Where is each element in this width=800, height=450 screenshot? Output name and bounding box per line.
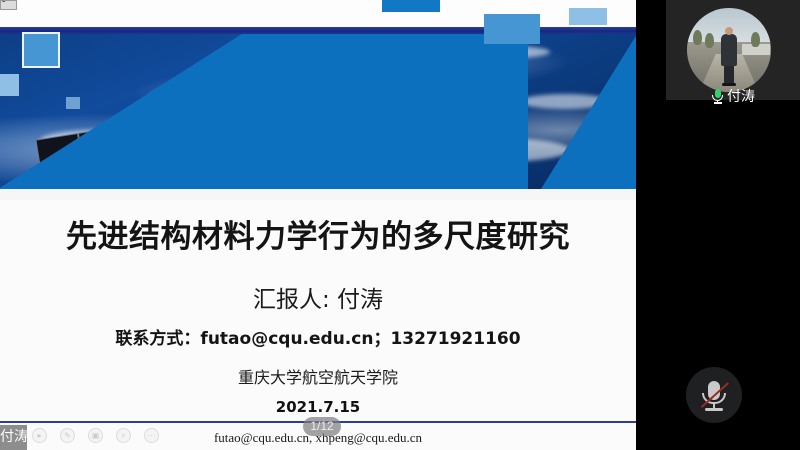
presenter-name-chip: 付涛 xyxy=(0,425,27,450)
slide-presenter: 汇报人: 付涛 xyxy=(0,280,636,314)
slide-banner-graphic xyxy=(0,0,636,200)
banner-top-margin xyxy=(0,0,636,27)
participant-tile[interactable]: 付涛 xyxy=(666,0,800,100)
more-options-icon[interactable]: ··· xyxy=(144,428,159,443)
shared-slide[interactable]: 先进结构材料力学行为的多尺度研究 汇报人: 付涛 联系方式：futao@cqu.… xyxy=(0,0,636,450)
participant-name-row: 付涛 xyxy=(666,86,800,106)
avatar-tree xyxy=(751,32,760,47)
avatar-coat xyxy=(721,34,737,66)
zoom-icon[interactable]: ⌕ xyxy=(116,428,131,443)
navy-divider-band xyxy=(0,27,636,34)
avatar-head xyxy=(725,27,733,35)
page-indicator[interactable]: 1/12 xyxy=(303,417,341,436)
decor-square-3 xyxy=(66,97,80,109)
banner-bottom-margin xyxy=(0,189,636,200)
slide-contact: 联系方式：futao@cqu.edu.cn；13271921160 xyxy=(0,324,636,349)
decor-square-4 xyxy=(382,0,440,12)
slide-date: 2021.7.15 xyxy=(0,398,636,416)
avatar-legs xyxy=(724,64,734,84)
slide-title: 先进结构材料力学行为的多尺度研究 xyxy=(0,211,636,256)
decor-square-2 xyxy=(0,74,19,96)
microphone-on-icon xyxy=(711,89,724,104)
avatar-tree xyxy=(705,33,714,48)
slide-affiliation: 重庆大学航空航天学院 xyxy=(0,364,636,388)
participant-name: 付涛 xyxy=(727,86,755,106)
artifact-label: ▪▪ xyxy=(2,0,4,5)
mute-toggle-button[interactable] xyxy=(686,367,742,423)
pen-icon[interactable]: ✎ xyxy=(60,428,75,443)
avatar xyxy=(687,8,771,92)
top-left-ui-artifact: ▪▪ xyxy=(0,0,17,10)
decor-square-6 xyxy=(569,8,607,25)
decor-square-5 xyxy=(484,14,540,44)
pointer-laser-icon[interactable]: ▸ xyxy=(32,428,47,443)
avatar-tree xyxy=(693,30,702,45)
highlighter-icon[interactable]: ▣ xyxy=(88,428,103,443)
meeting-screen-share-view: 先进结构材料力学行为的多尺度研究 汇报人: 付涛 联系方式：futao@cqu.… xyxy=(0,0,800,450)
annotation-toolbar[interactable]: ▸ ✎ ▣ ⌕ ··· xyxy=(32,428,159,443)
decor-square-1 xyxy=(24,34,58,66)
